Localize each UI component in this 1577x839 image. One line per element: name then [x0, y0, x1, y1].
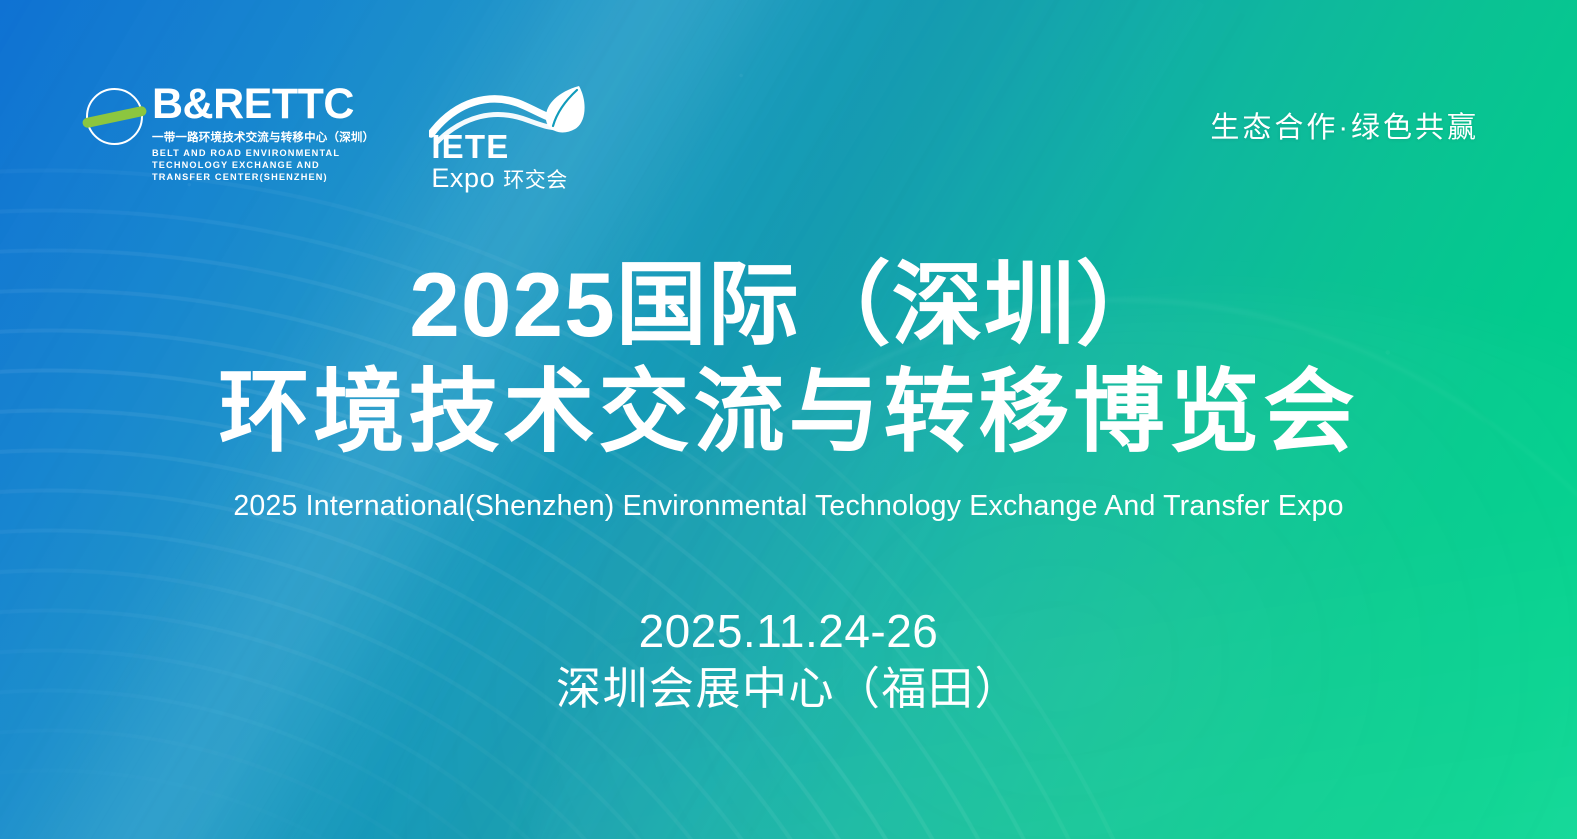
brettc-english-name: BELT AND ROAD ENVIRONMENTAL TECHNOLOGY E…: [152, 147, 367, 183]
event-venue: 深圳会展中心（福田）: [0, 662, 1577, 717]
event-date: 2025.11.24-26: [0, 604, 1577, 658]
logo-divider: [400, 90, 401, 166]
globe-icon: [86, 88, 143, 145]
iete-expo-label: Expo: [431, 165, 495, 192]
event-details: 2025.11.24-26 深圳会展中心（福田）: [0, 604, 1577, 717]
iete-chinese-label: 环交会: [503, 170, 568, 191]
iete-expo-logo[interactable]: IETE Expo 环交会: [429, 84, 593, 188]
page-subtitle-english: 2025 International(Shenzhen) Environment…: [0, 490, 1577, 523]
page-title-line2: 环境技术交流与转移博览会: [0, 362, 1577, 464]
brettc-title: B&RETTC: [152, 84, 374, 125]
logo-row: B&RETTC 一带一路环境技术交流与转移中心（深圳） BELT AND ROA…: [86, 84, 593, 188]
brettc-chinese-name: 一带一路环境技术交流与转移中心（深圳）: [152, 129, 374, 145]
iete-wordmark: IETE: [431, 130, 567, 163]
event-banner: B&RETTC 一带一路环境技术交流与转移中心（深圳） BELT AND ROA…: [0, 0, 1577, 839]
headline-block: 2025国际（深圳） 环境技术交流与转移博览会 2025 Internation…: [0, 258, 1577, 523]
tagline: 生态合作·绿色共赢: [1210, 104, 1479, 146]
page-title-line1: 2025国际（深圳）: [0, 258, 1577, 354]
brettc-logo[interactable]: B&RETTC 一带一路环境技术交流与转移中心（深圳） BELT AND ROA…: [86, 84, 400, 183]
